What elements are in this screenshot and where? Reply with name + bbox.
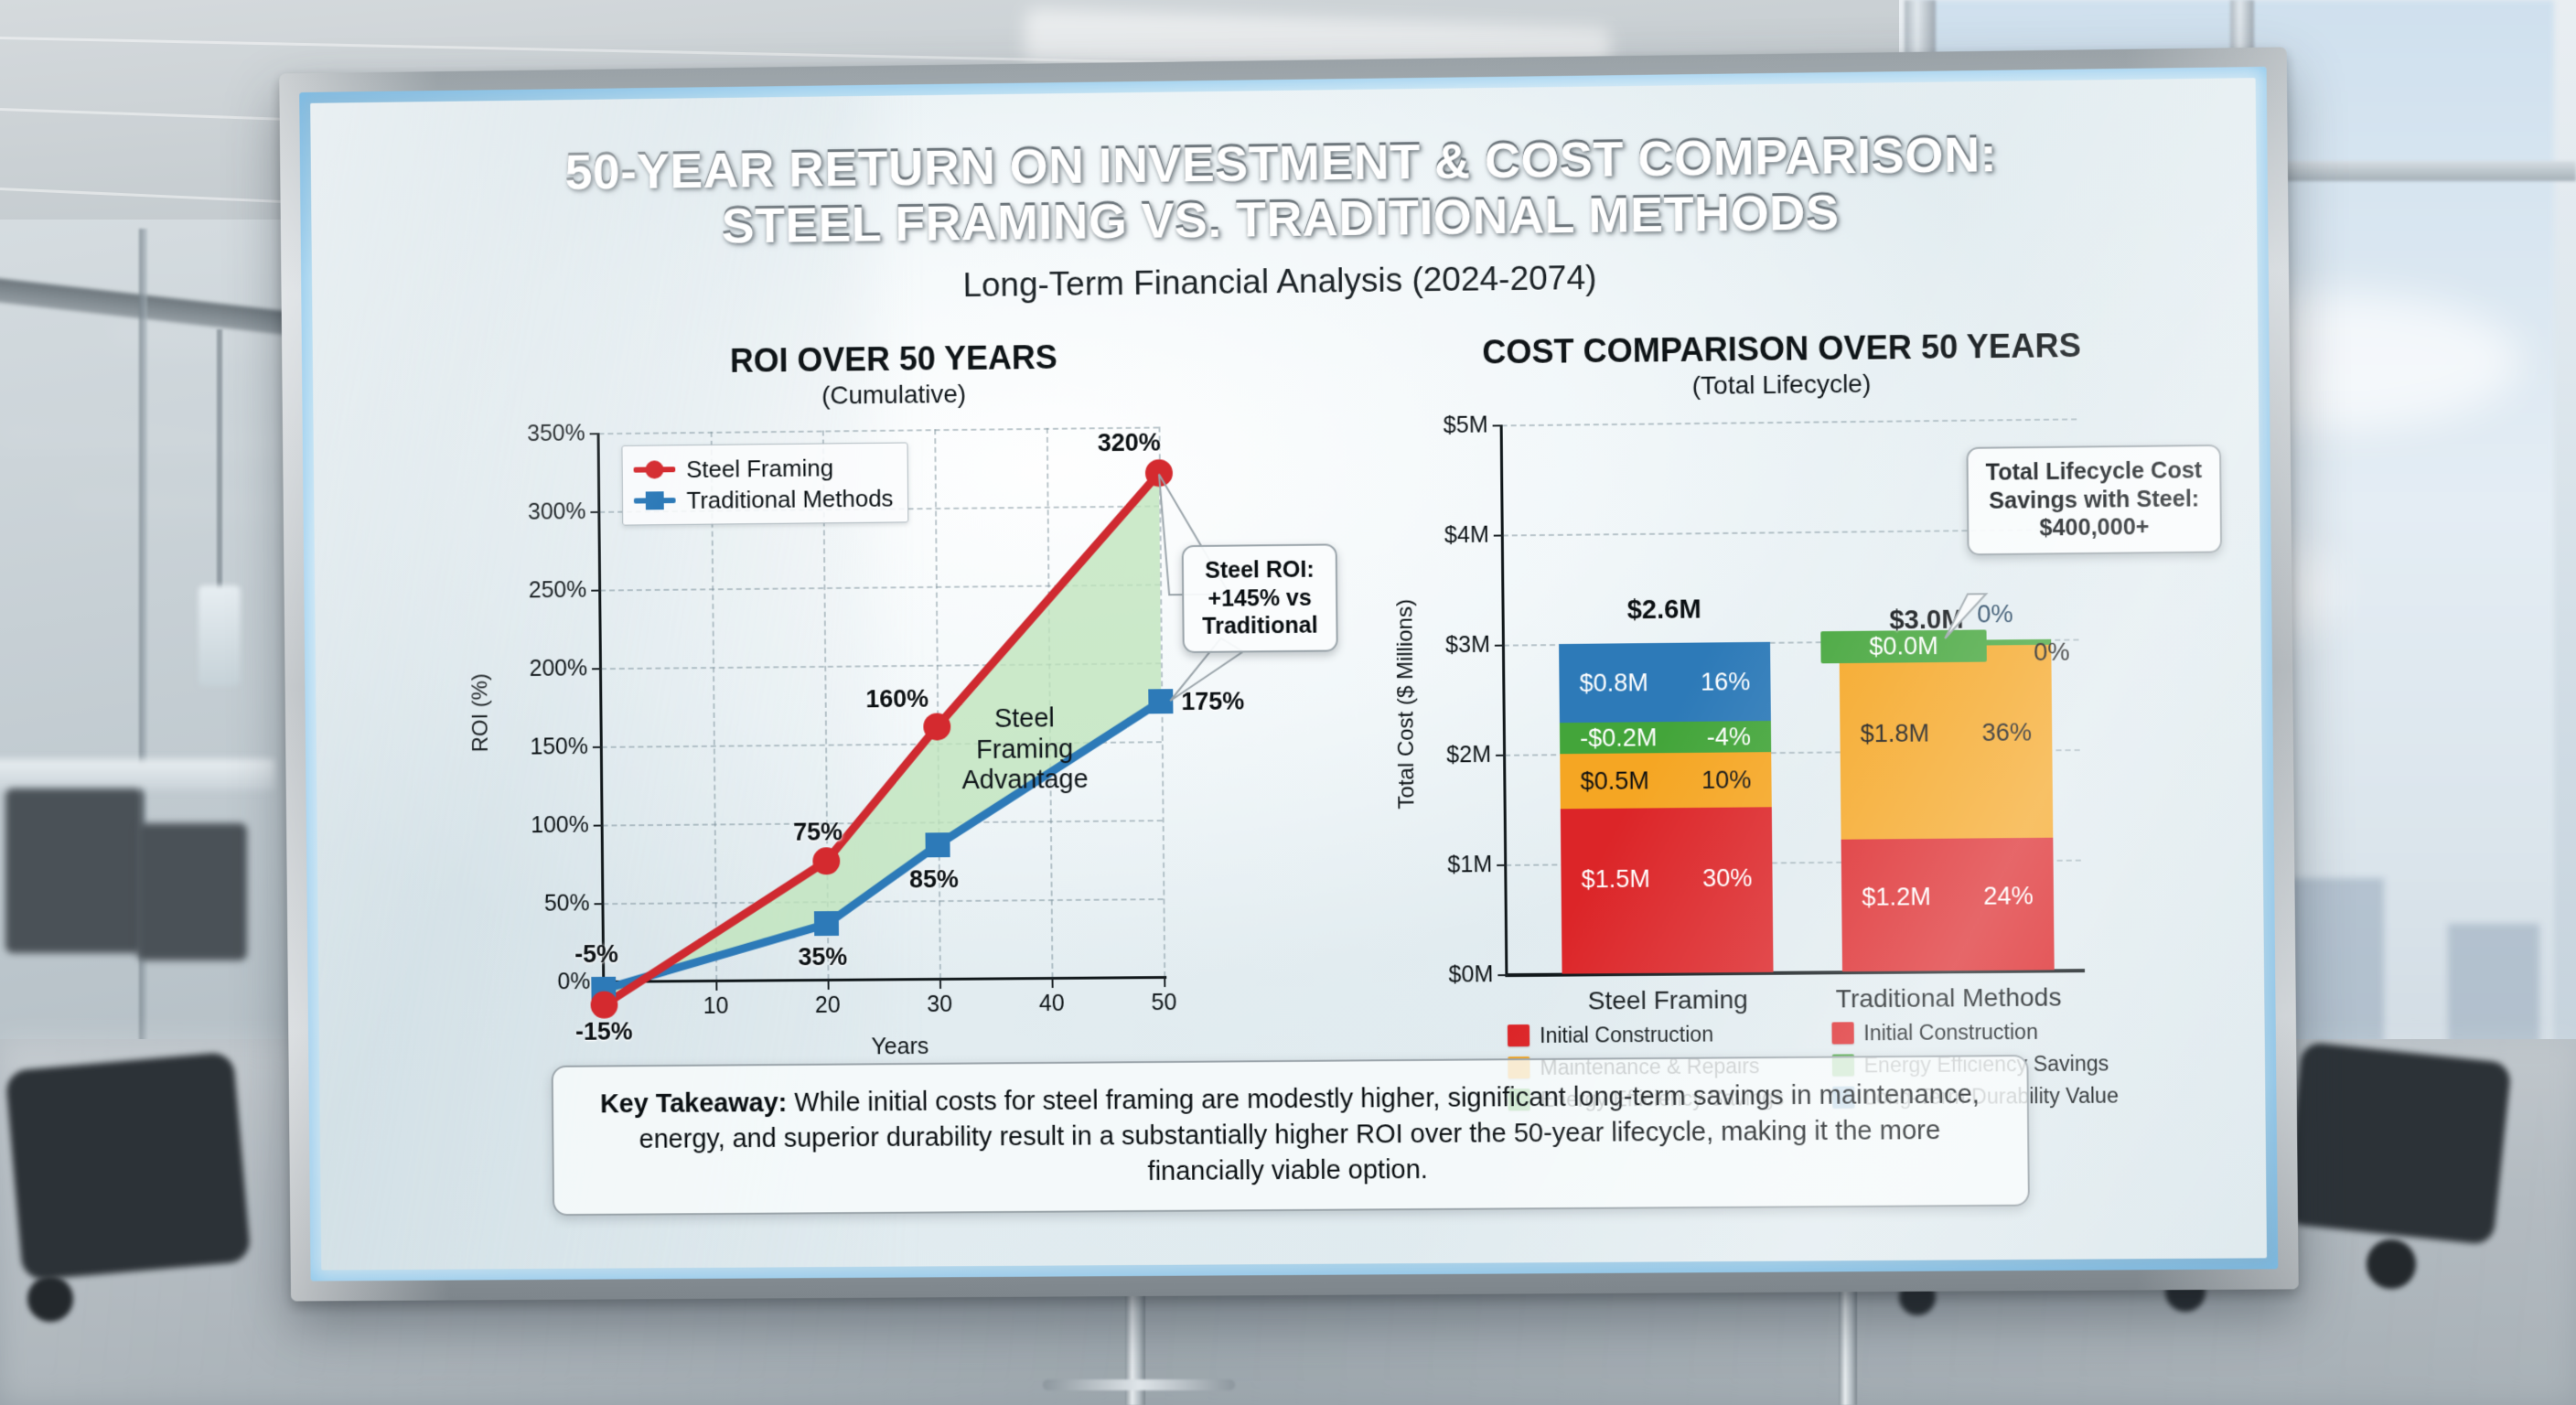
y-tickmark (1496, 755, 1506, 756)
x-tick-label-30: 30 (903, 992, 976, 1019)
segment-pct-label: 24% (1983, 882, 2034, 911)
segment-value-label: -$0.2M (1580, 724, 1658, 753)
legend-item[interactable]: Initial Construction (1831, 1017, 2118, 1046)
y-tick-label-3M: $3M (1362, 631, 1490, 659)
pendant-lamp (199, 585, 241, 686)
roi-plot-area: 350% 300% 250% 200% 150% 100% 50% 0% 0 1… (439, 335, 1357, 1056)
y-tickmark (590, 433, 600, 434)
legend-item[interactable]: Initial Construction (1508, 1020, 1784, 1049)
segment-value-label: $0.0M (1869, 632, 1938, 661)
gridline-250 (600, 584, 1160, 591)
board-stand-leg (1839, 1281, 1857, 1405)
bar-segment-maintenance-repairs[interactable]: $0.5M 10% (1560, 752, 1772, 809)
y-tick-label-0M: $0M (1365, 961, 1493, 989)
bar-total-steel-framing: $2.6M (1559, 595, 1770, 627)
y-tickmark (1497, 974, 1508, 976)
callout-line-1: Total Lifecycle Cost (1983, 456, 2206, 487)
cost-y-axis-title: Total Cost ($ Millions) (1392, 566, 1421, 841)
y-tickmark (590, 511, 600, 513)
office-chair (2283, 1042, 2512, 1246)
bar-segment-initial-construction[interactable]: $1.2M 24% (1841, 838, 2055, 971)
y-tick-label-5M: $5M (1359, 412, 1487, 440)
y-tickmark (593, 746, 603, 748)
y-tickmark (594, 825, 604, 827)
callout-line-3: Traditional (1198, 612, 1321, 641)
key-takeaway-label: Key Takeaway: (600, 1089, 788, 1119)
category-label-steel-framing: Steel Framing (1535, 985, 1802, 1016)
traditional-methods-line-icon (634, 498, 676, 503)
segment-value-label: $0.5M (1580, 767, 1649, 796)
key-takeaway-text: While initial costs for steel framing ar… (639, 1080, 1980, 1186)
steel-label-year50: 320% (1098, 428, 1161, 457)
x-tickmark (1164, 977, 1165, 987)
cost-y-axis-line (1500, 424, 1508, 974)
segment-value-label: $1.2M (1862, 883, 1931, 912)
y-tick-label-350: 350% (458, 420, 585, 447)
y-axis-line (597, 433, 606, 981)
y-tickmark (1495, 645, 1505, 647)
bar-segment-long-term-durability-value[interactable]: $0.8M 16% (1559, 642, 1771, 723)
presentation-whiteboard: 50-YEAR RETURN ON INVESTMENT & COST COMP… (279, 47, 2299, 1301)
y-tickmark (1494, 534, 1504, 536)
bar-total-traditional-methods: $3.0M (1820, 605, 2033, 637)
office-chair (5, 788, 143, 953)
meeting-table (0, 759, 274, 790)
steel-label-year20: 75% (793, 818, 843, 846)
segment-pct-label: 16% (1701, 668, 1751, 697)
x-tick-label-40: 40 (1015, 991, 1089, 1018)
y-tickmark (1493, 424, 1503, 426)
y-tick-label-300: 300% (459, 499, 586, 526)
y-tick-label-1M: $1M (1364, 852, 1492, 879)
annotation-line-1: Steel (933, 703, 1116, 735)
gridline-200 (601, 662, 1161, 670)
callout-line-1: Steel ROI: (1198, 556, 1321, 585)
bar-segment-energy-efficiency-savings[interactable]: -$0.2M -4% (1560, 721, 1771, 754)
legend-label-steel-framing: Steel Framing (686, 454, 833, 484)
lifecycle-savings-callout: Total Lifecycle Cost Savings with Steel:… (1966, 445, 2222, 555)
steel-label-year0: -15% (575, 1017, 633, 1046)
gridline-50 (603, 898, 1163, 905)
cost-plot-area: $5M $4M $3M $2M $1M $0M Total Cost ($ Mi… (1340, 325, 2230, 1085)
page-title: 50-YEAR RETURN ON INVESTMENT & COST COMP… (311, 122, 2258, 257)
bar-segment-initial-construction[interactable]: $1.5M 30% (1561, 807, 1774, 973)
gridline-350 (599, 426, 1159, 434)
callout-line-2: Savings with Steel: (1983, 485, 2206, 515)
x-tickmark (715, 981, 717, 991)
bar-segment-maintenance-repairs[interactable]: $1.8M 36% (1840, 645, 2054, 840)
traditional-label-year0: -5% (574, 940, 618, 969)
segment-pct-label: 0% (2034, 638, 2070, 668)
y-tick-label-250: 250% (459, 576, 586, 604)
steel-label-year34: 160% (865, 685, 928, 714)
segment-pct-label: -4% (1707, 723, 1752, 752)
y-tick-label-2M: $2M (1363, 741, 1491, 768)
annotation-line-2: Framing (933, 734, 1116, 766)
x-tickmark (828, 980, 830, 990)
gridline-x50 (1158, 426, 1165, 977)
segment-value-label: $1.8M (1860, 719, 1929, 748)
y-tick-label-50: 50% (463, 890, 590, 917)
steel-roi-callout: Steel ROI: +145% vs Traditional (1182, 543, 1338, 652)
roi-chart-legend[interactable]: Steel Framing Traditional Methods (621, 442, 908, 525)
roi-y-axis-title: ROI (%) (467, 631, 494, 795)
x-tickmark (1052, 978, 1054, 988)
office-chair (137, 823, 247, 960)
bar-traditional-methods[interactable]: $1.2M 24% $1.8M 36% $0.0M (1836, 327, 2054, 971)
initial-construction-swatch-icon (1508, 1024, 1529, 1046)
y-tick-label-4M: $4M (1360, 521, 1488, 549)
initial-construction-swatch-icon (1831, 1022, 1853, 1044)
legend-item-traditional-methods[interactable]: Traditional Methods (634, 483, 894, 517)
x-axis-line (602, 976, 1166, 983)
steel-framing-line-icon (634, 467, 676, 472)
legend-label: Initial Construction (1863, 1019, 2038, 1046)
board-stand-foot (1043, 1379, 1235, 1390)
chair-caster (27, 1276, 73, 1322)
y-tickmark (591, 590, 601, 592)
office-chair (5, 1052, 251, 1282)
callout-line-3: $400,000+ (1983, 512, 2206, 542)
segment-pct-label: 30% (1702, 864, 1753, 894)
segment-value-label: $0.8M (1579, 669, 1648, 698)
annotation-line-3: Advantage (934, 765, 1117, 797)
segment-pct-label-energy-traditional: 0% (1968, 638, 2069, 668)
x-tickmark (604, 981, 606, 992)
roi-x-axis-title: Years (809, 1033, 991, 1060)
y-tick-label-0: 0% (464, 969, 591, 996)
x-tick-label-10: 10 (680, 993, 753, 1021)
segment-pct-label: 36% (1981, 718, 2032, 747)
traditional-label-year34: 85% (909, 865, 959, 894)
traditional-label-year20: 35% (798, 943, 847, 971)
callout-line-2: +145% vs (1198, 584, 1321, 613)
y-tick-label-100: 100% (462, 811, 589, 839)
cost-comparison-panel: COST COMPARISON OVER 50 YEARS (Total Lif… (1340, 325, 2231, 1140)
legend-label-traditional-methods: Traditional Methods (686, 484, 893, 514)
gridline-100 (603, 820, 1163, 826)
board-surface: 50-YEAR RETURN ON INVESTMENT & COST COMP… (310, 78, 2267, 1270)
segment-pct-label: 10% (1701, 766, 1752, 795)
x-tick-label-20: 20 (791, 992, 864, 1020)
category-label-traditional-methods: Traditional Methods (1810, 982, 2088, 1014)
traditional-label-year50: 175% (1181, 687, 1244, 716)
y-tickmark (595, 903, 605, 905)
segment-value-label: $1.5M (1581, 865, 1650, 895)
roi-line-chart-panel: ROI OVER 50 YEARS (Cumulative) (439, 335, 1357, 1128)
square-marker-icon (646, 491, 664, 509)
y-tickmark (1497, 864, 1507, 866)
x-tick-label-50: 50 (1127, 990, 1200, 1017)
bar-steel-framing[interactable]: $1.5M 30% $0.5M 10% -$0.2M (1556, 330, 1774, 974)
key-takeaway-box: Key Takeaway: While initial costs for st… (552, 1055, 2030, 1216)
page-subtitle: Long-Term Financial Analysis (2024-2074) (312, 251, 2258, 312)
legend-item-steel-framing[interactable]: Steel Framing (633, 452, 893, 486)
steel-advantage-annotation: Steel Framing Advantage (933, 703, 1116, 798)
x-tickmark (939, 979, 941, 989)
legend-label: Initial Construction (1540, 1022, 1713, 1047)
y-tickmark (592, 668, 602, 670)
circle-marker-icon (645, 460, 663, 478)
chair-caster (2367, 1239, 2416, 1289)
